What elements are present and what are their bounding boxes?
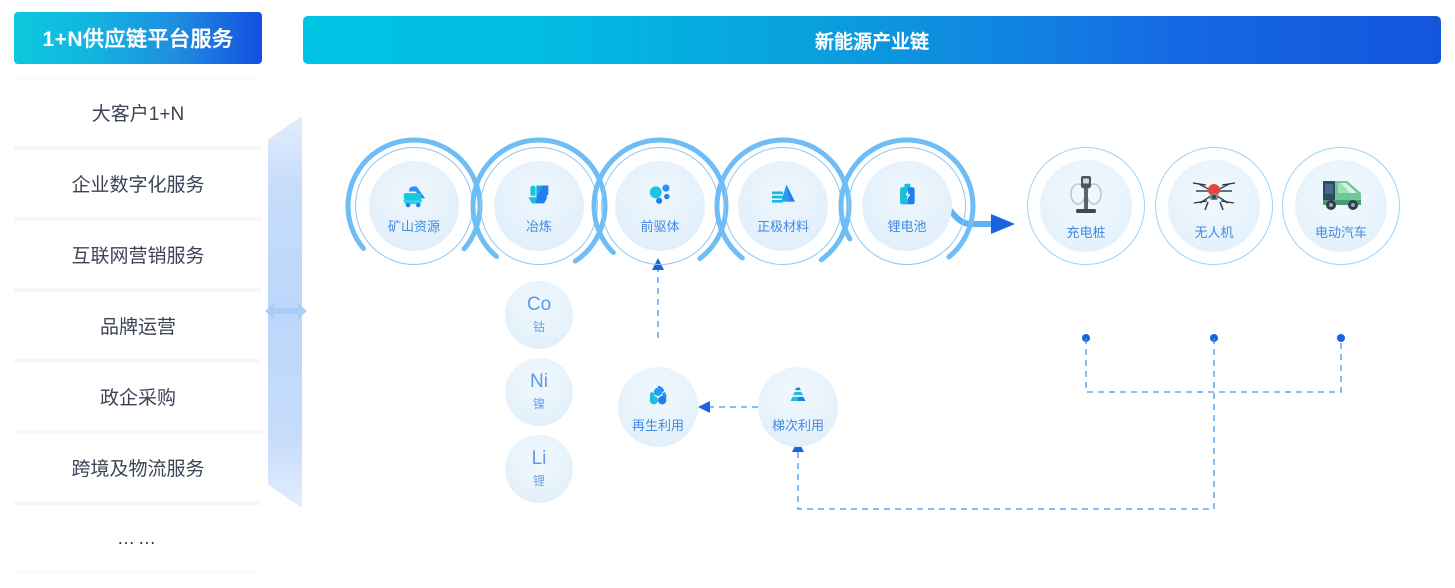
product-node-drone[interactable]: 无人机 [1155,147,1273,265]
cathode-material-icon [766,177,800,211]
node-label: 矿山资源 [388,216,440,235]
sidebar-item-label: 跨境及物流服务 [71,454,204,481]
element-symbol: Co [527,295,551,314]
node-label: 充电桩 [1066,222,1105,241]
node-label: 冶炼 [526,216,552,235]
recycle-arrows-icon [643,381,673,411]
element-name: 钴 [533,318,545,335]
sidebar-item-label: 品牌运营 [100,312,176,339]
sidebar-title: 1+N供应链平台服务 [14,12,262,64]
chain-node-smelting[interactable]: 冶炼 [480,147,598,265]
sidebar-item-more[interactable]: …… [14,505,262,572]
sidebar-item-label: 政企采购 [100,383,176,410]
molecule-dots-icon [643,177,677,211]
arrow-right-icon [991,214,1015,234]
node-inner: 矿山资源 [369,161,459,251]
recycle-label: 再生利用 [632,415,684,434]
sidebar-list: 大客户1+N 企业数字化服务 互联网营销服务 品牌运营 政企采购 跨境及物流服务… [14,78,262,573]
sidebar-item-key-account[interactable]: 大客户1+N [14,79,262,146]
sidebar-item-government-procurement[interactable]: 政企采购 [14,363,262,430]
element-name: 镍 [533,395,545,412]
arrow-left-icon [698,401,710,413]
mining-truck-icon [397,177,431,211]
node-inner: 无人机 [1168,160,1260,252]
electric-vehicle-anchor-dot [1337,334,1345,342]
element-node-nickel[interactable]: Ni 镍 [505,358,573,426]
node-inner: 充电桩 [1040,160,1132,252]
charging-pile-icon [1062,172,1110,216]
chain-node-cathode[interactable]: 正极材料 [724,147,842,265]
cascade-pyramid-icon [783,381,813,411]
chain-node-mining[interactable]: 矿山资源 [355,147,473,265]
node-label: 正极材料 [757,216,809,235]
recycle-label: 梯次利用 [772,415,824,434]
element-name: 锂 [533,472,545,489]
sidebar-item-label: …… [117,528,159,549]
recycle-node-cascade[interactable]: 梯次利用 [758,367,838,447]
sidebar: 1+N供应链平台服务 大客户1+N 企业数字化服务 互联网营销服务 品牌运营 政… [14,12,262,572]
diagram-canvas: 矿山资源 冶炼 [303,72,1455,588]
node-label: 前驱体 [640,216,679,235]
chain-node-precursor[interactable]: 前驱体 [601,147,719,265]
node-inner: 前驱体 [615,161,705,251]
element-node-lithium[interactable]: Li 锂 [505,435,573,503]
recycle-node-regeneration[interactable]: 再生利用 [618,367,698,447]
node-inner: 电动汽车 [1295,160,1387,252]
drone-icon [1190,172,1238,216]
products-to-cascade-line [798,338,1214,509]
node-inner: 锂电池 [862,161,952,251]
sidebar-item-cross-border-logistics[interactable]: 跨境及物流服务 [14,434,262,501]
node-label: 无人机 [1194,222,1233,241]
electric-vehicle-icon [1317,172,1365,216]
sidebar-item-brand-operation[interactable]: 品牌运营 [14,292,262,359]
battery-icon [890,177,924,211]
sidebar-item-label: 企业数字化服务 [71,170,204,197]
node-inner: 冶炼 [494,161,584,251]
node-inner: 正极材料 [738,161,828,251]
product-node-electric-vehicle[interactable]: 电动汽车 [1282,147,1400,265]
element-symbol: Ni [530,372,548,391]
chain-node-lithium-battery[interactable]: 锂电池 [848,147,966,265]
node-label: 电动汽车 [1315,222,1367,241]
node-label: 锂电池 [887,216,926,235]
sidebar-item-label: 大客户1+N [92,99,184,126]
sidebar-item-label: 互联网营销服务 [71,241,204,268]
product-node-charging-pile[interactable]: 充电桩 [1027,147,1145,265]
sidebar-item-internet-marketing[interactable]: 互联网营销服务 [14,221,262,288]
infographic-root: 1+N供应链平台服务 大客户1+N 企业数字化服务 互联网营销服务 品牌运营 政… [0,0,1455,588]
element-symbol: Li [532,449,547,468]
sidebar-item-digitalization[interactable]: 企业数字化服务 [14,150,262,217]
page-title: 新能源产业链 [303,16,1441,64]
smelting-ladle-icon [522,177,556,211]
element-node-cobalt[interactable]: Co 钴 [505,281,573,349]
